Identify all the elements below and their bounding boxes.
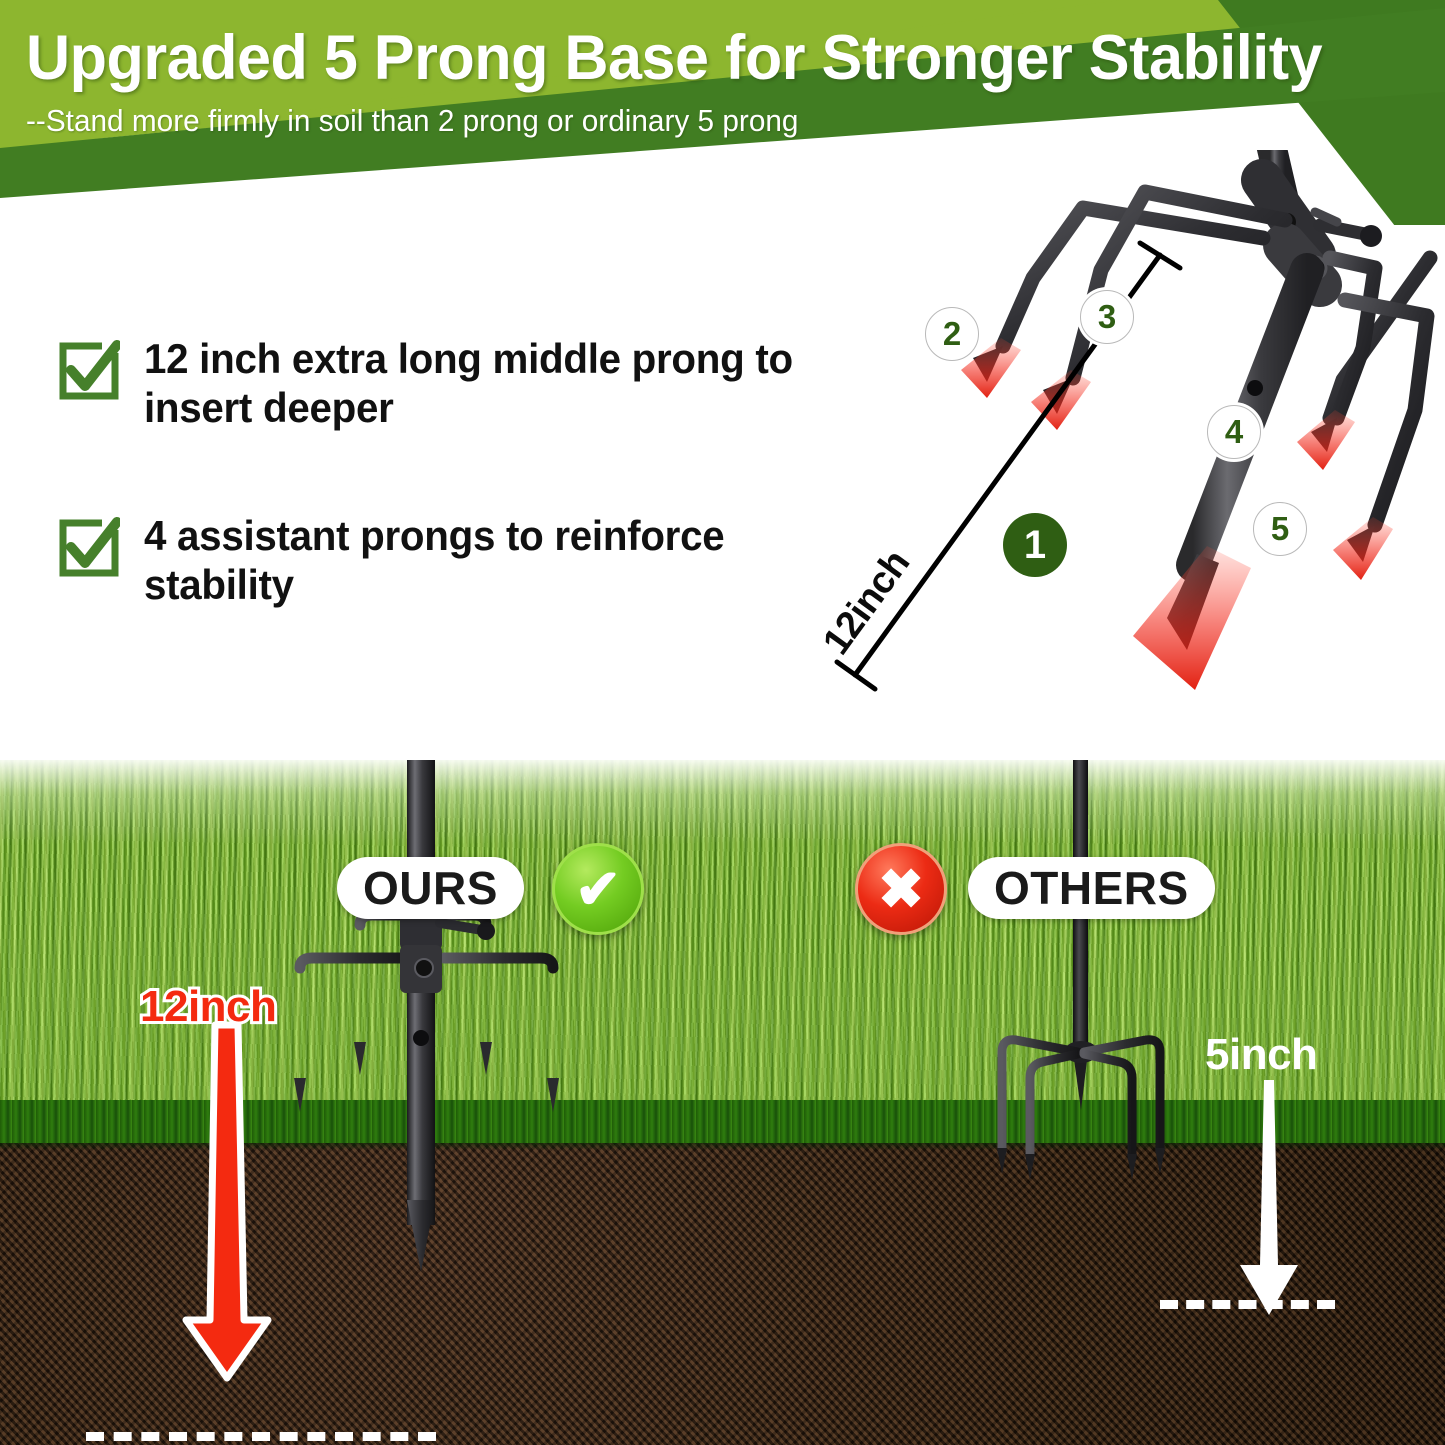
callout-badge-5: 5: [1253, 502, 1307, 556]
stakes-illustration: [0, 760, 1445, 1445]
ours-deep-tip: [407, 1200, 435, 1272]
ours-prong-tip: [294, 1078, 306, 1112]
ours-stake: [294, 760, 559, 1272]
feature-item-1: 12 inch extra long middle prong to inser…: [58, 335, 888, 432]
label-others: OTHERS: [968, 857, 1215, 919]
ours-prong-tip: [480, 1042, 492, 1075]
ours-prong-tip: [547, 1078, 559, 1112]
label-ours: OURS: [337, 857, 524, 919]
feature-item-2: 4 assistant prongs to reinforce stabilit…: [58, 512, 888, 609]
others-depth-arrow: [1240, 1080, 1298, 1315]
checkbox-check-icon: [58, 339, 120, 401]
others-prong-tip: [1155, 1148, 1165, 1174]
feature-item-1-label: 12 inch extra long middle prong to inser…: [144, 335, 858, 432]
others-prong-tip: [1127, 1154, 1137, 1180]
feature-item-2-label: 4 assistant prongs to reinforce stabilit…: [144, 512, 858, 609]
callout-badge-1: 1: [1003, 513, 1067, 577]
ours-depth-dashed-line: [86, 1432, 436, 1441]
cross-badge-icon: ✖: [855, 843, 947, 935]
others-depth-label: 5inch: [1205, 1030, 1317, 1080]
others-prong-tip: [997, 1148, 1007, 1174]
product-illustration: [815, 150, 1445, 765]
infographic-page: Upgraded 5 Prong Base for Stronger Stabi…: [0, 0, 1445, 1445]
callout-badge-4: 4: [1207, 405, 1261, 459]
callout-badge-3: 3: [1080, 290, 1134, 344]
checkbox-check-icon: [58, 516, 120, 578]
product-photo: 2 3 1 4 5 12inch: [815, 150, 1445, 765]
others-prong-tip: [1025, 1154, 1035, 1180]
comparison-scene: OURS OTHERS ✔ ✖ 12inch 5inch: [0, 760, 1445, 1445]
callout-badge-2: 2: [925, 307, 979, 361]
others-stake: [997, 760, 1165, 1180]
others-depth-dashed-line: [1160, 1300, 1335, 1309]
page-subtitle: --Stand more firmly in soil than 2 prong…: [26, 103, 798, 139]
page-title: Upgraded 5 Prong Base for Stronger Stabi…: [26, 22, 1322, 94]
ours-depth-label: 12inch: [140, 982, 276, 1032]
ours-prong-tip: [354, 1042, 366, 1075]
ours-depth-arrow: [186, 1025, 268, 1378]
feature-list: 12 inch extra long middle prong to inser…: [58, 335, 888, 690]
check-badge-icon: ✔: [552, 843, 644, 935]
